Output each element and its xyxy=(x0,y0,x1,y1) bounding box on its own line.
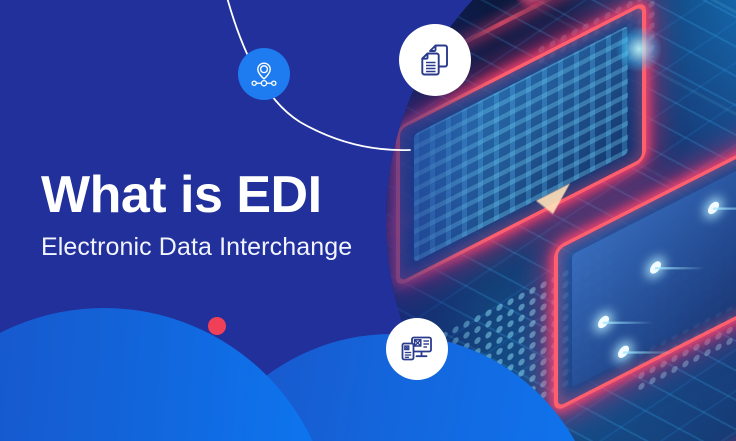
badge-network-location[interactable] xyxy=(238,48,290,100)
headline-block: What is EDI Electronic Data Interchange xyxy=(41,168,352,262)
blue-circle-front xyxy=(0,308,334,441)
page-subtitle: Electronic Data Interchange xyxy=(41,233,352,262)
monitor-document-exchange-icon xyxy=(397,329,437,369)
documents-stack-icon xyxy=(413,38,457,82)
badge-documents[interactable] xyxy=(399,24,471,96)
location-pin-network-icon xyxy=(248,58,280,90)
page-title: What is EDI xyxy=(41,168,352,223)
badge-data-exchange[interactable] xyxy=(386,318,448,380)
red-dot xyxy=(208,317,226,335)
edi-hero-banner: What is EDI Electronic Data Interchange xyxy=(0,0,736,441)
